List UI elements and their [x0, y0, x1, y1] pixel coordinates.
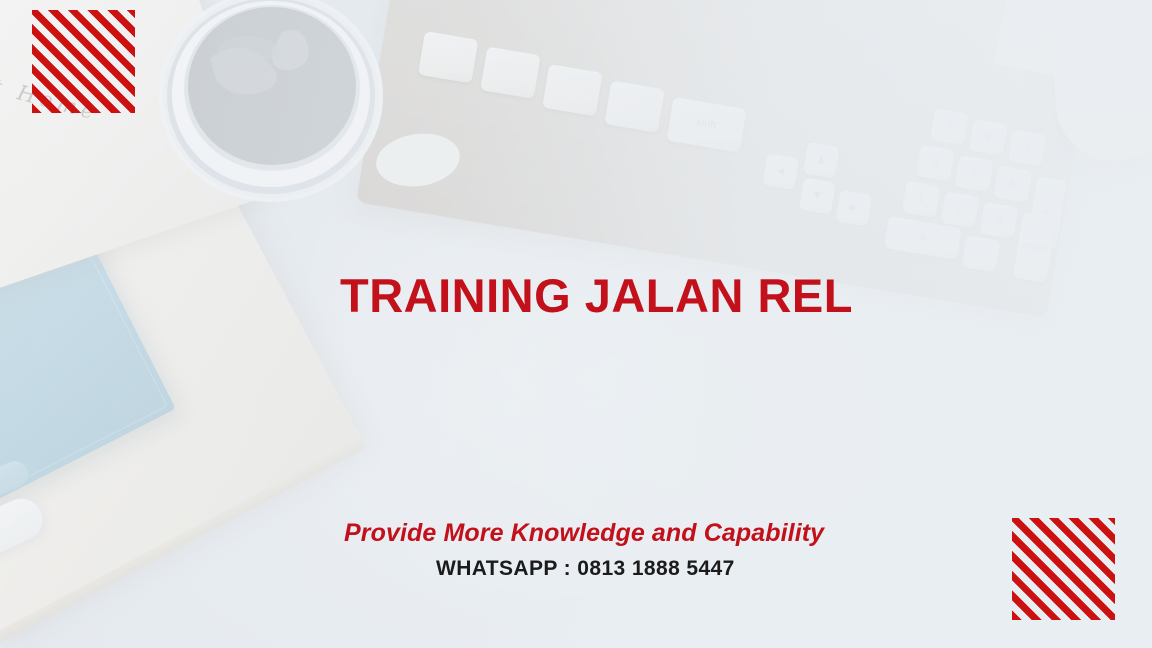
- desk-photo-background: shift◀▲▼▶7894561230.+enter Work at Home: [0, 0, 1152, 648]
- tagline-text: Provide More Knowledge and Capability: [344, 519, 824, 548]
- page-title: TRAINING JALAN REL: [340, 270, 853, 322]
- diagonal-stripe-square-bottom-right: [1012, 518, 1115, 620]
- banner-canvas: shift◀▲▼▶7894561230.+enter Work at Home: [0, 0, 1152, 648]
- whatsapp-contact-text: WHATSAPP : 0813 1888 5447: [436, 557, 735, 581]
- photo-fade-overlay: [0, 0, 1152, 648]
- diagonal-stripe-square-top-left: [32, 10, 135, 113]
